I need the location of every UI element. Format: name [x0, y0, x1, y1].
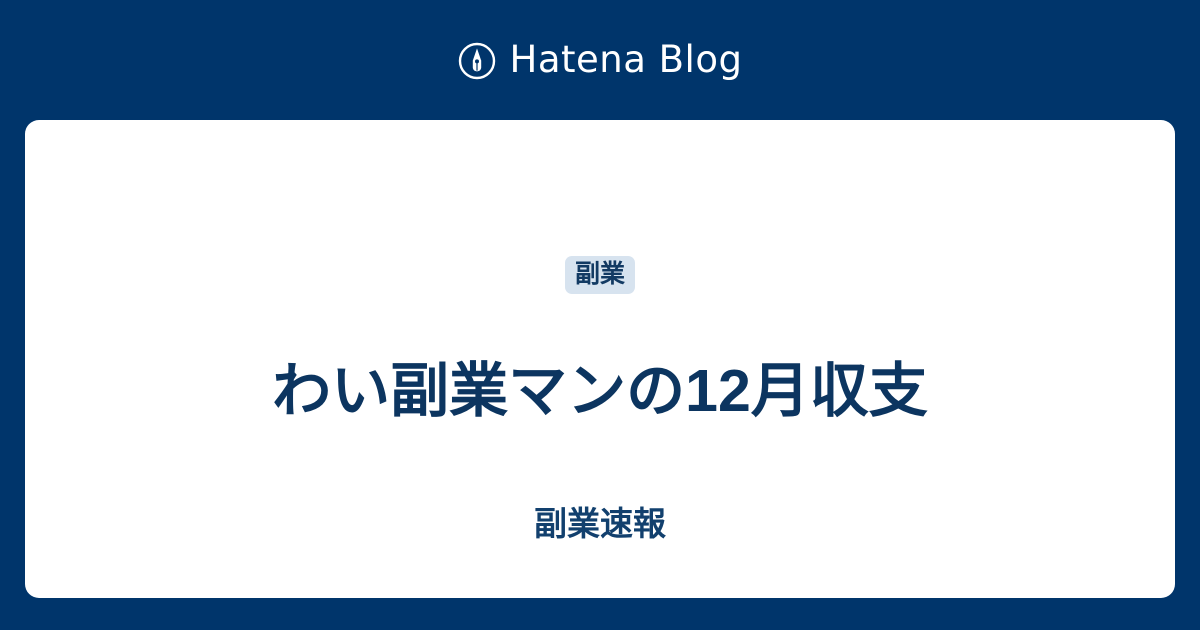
entry-card: 副業 わい副業マンの12月収支 副業速報	[25, 120, 1175, 598]
ogp-card-root: Hatena Blog 副業 わい副業マンの12月収支 副業速報	[0, 0, 1200, 630]
category-tag-row: 副業	[25, 256, 1175, 294]
entry-title-row: わい副業マンの12月収支	[25, 316, 1175, 465]
blog-name-label[interactable]: 副業速報	[534, 506, 666, 542]
blog-name-row: 副業速報	[25, 506, 1175, 542]
pen-nib-circle-icon	[458, 40, 496, 80]
entry-card-content: 副業 わい副業マンの12月収支 副業速報	[25, 120, 1175, 598]
category-tag-badge[interactable]: 副業	[565, 256, 635, 294]
service-brand-header: Hatena Blog	[0, 0, 1200, 120]
service-name-label: Hatena Blog	[510, 41, 743, 79]
entry-title: わい副業マンの12月収支	[272, 356, 928, 426]
